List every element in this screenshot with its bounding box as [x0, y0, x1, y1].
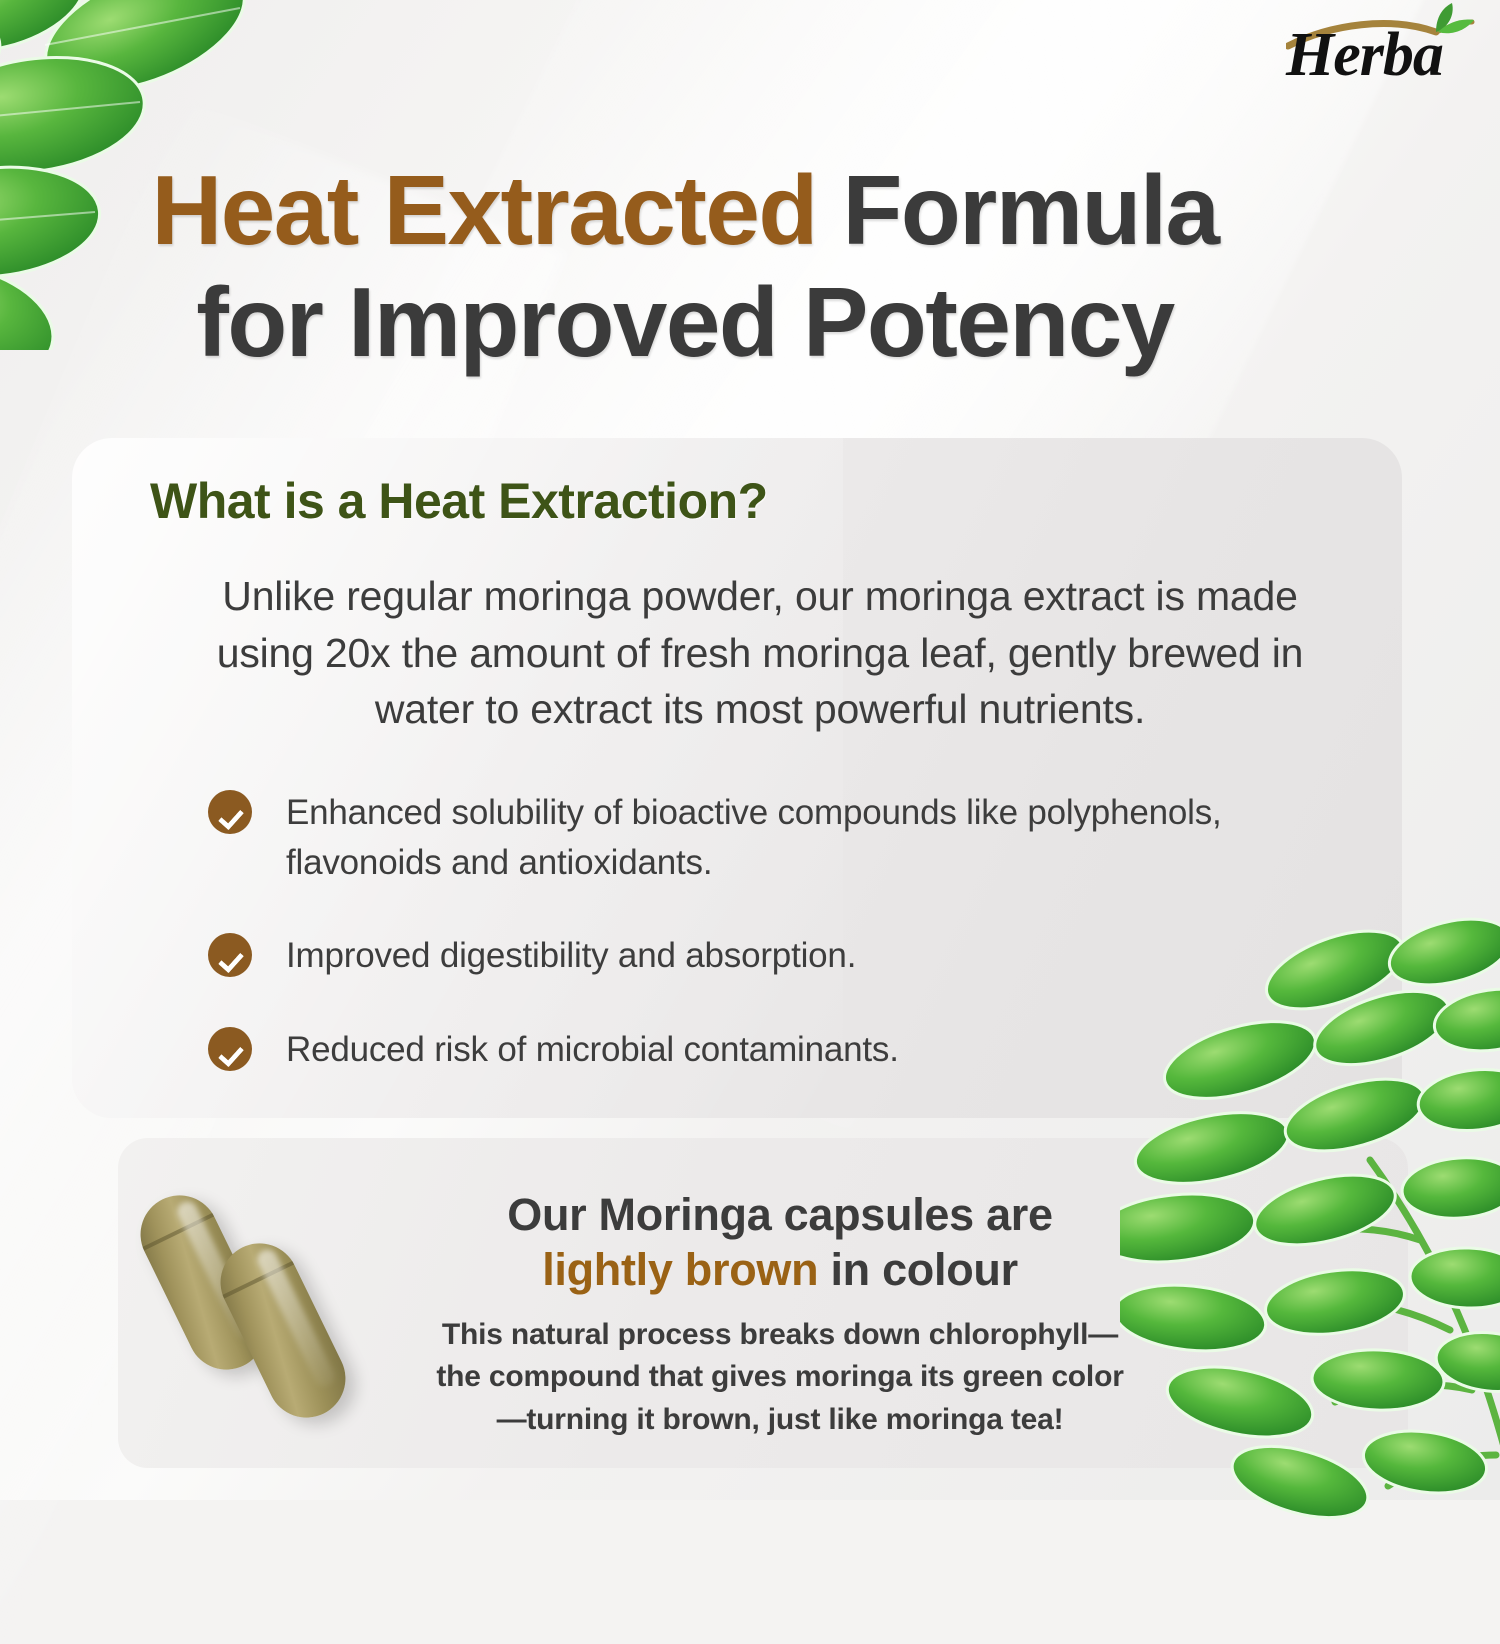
- benefits-list: Enhanced solubility of bioactive compoun…: [208, 788, 1268, 1075]
- list-item: Enhanced solubility of bioactive compoun…: [208, 788, 1268, 887]
- title-highlight: Heat Extracted: [151, 155, 816, 265]
- brand-logo: Herba: [1286, 6, 1476, 98]
- title-rest: Formula: [817, 155, 1219, 265]
- list-item: Improved digestibility and absorption.: [208, 931, 1268, 981]
- capsule-info-text: Our Moringa capsules are lightly brown i…: [430, 1188, 1130, 1442]
- leaf-branch-svg: [1120, 910, 1500, 1530]
- capsule-headline-part-2: in colour: [818, 1244, 1018, 1295]
- lead-paragraph: Unlike regular moringa powder, our morin…: [215, 568, 1305, 738]
- list-item-label: Reduced risk of microbial contaminants.: [286, 1025, 899, 1075]
- capsule-headline-part-1: Our Moringa capsules are: [507, 1189, 1052, 1240]
- moringa-branch-decoration-bottom-right: [1120, 910, 1500, 1530]
- title-line-2: for Improved Potency: [0, 267, 1370, 379]
- capsule-subtext: This natural process breaks down chlorop…: [430, 1314, 1130, 1442]
- page-title: Heat Extracted Formula for Improved Pote…: [0, 155, 1370, 378]
- section-heading: What is a Heat Extraction?: [150, 472, 768, 530]
- capsule-headline-highlight: lightly brown: [542, 1244, 818, 1295]
- capsule-headline: Our Moringa capsules are lightly brown i…: [430, 1188, 1130, 1298]
- list-item: Reduced risk of microbial contaminants.: [208, 1025, 1268, 1075]
- check-circle-icon: [208, 790, 252, 834]
- logo-wordmark: Herba: [1286, 24, 1476, 86]
- check-circle-icon: [208, 1027, 252, 1071]
- list-item-label: Enhanced solubility of bioactive compoun…: [286, 788, 1246, 887]
- check-circle-icon: [208, 933, 252, 977]
- list-item-label: Improved digestibility and absorption.: [286, 931, 856, 981]
- moringa-capsules-photo: [150, 1180, 420, 1430]
